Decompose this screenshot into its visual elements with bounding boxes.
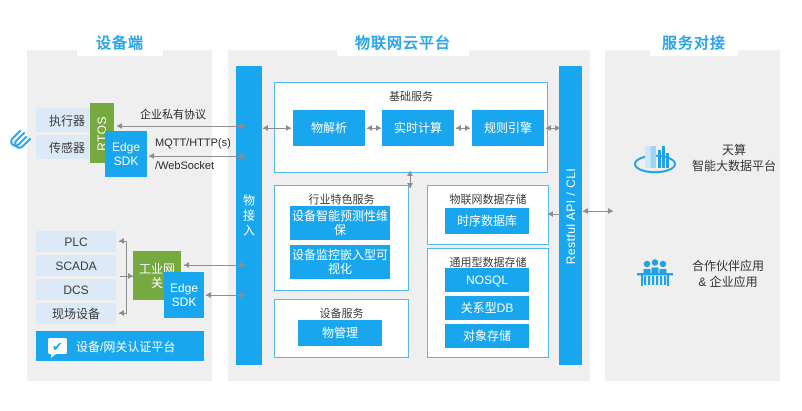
arrow-gateway-to-onsite [119, 313, 127, 314]
platform-api-bar[interactable]: Restful API / CLI [559, 66, 582, 365]
device-auth-platform-bar[interactable]: ✔ 设备/网关认证平台 [36, 331, 204, 361]
arrow-gateway-to-access [184, 265, 245, 266]
link-clip-icon [8, 128, 32, 150]
general-storage-nosql[interactable]: NOSQL [445, 268, 529, 292]
industry-service-monitor[interactable]: 设备监控嵌入型可视化 [290, 245, 390, 279]
arrow-api-to-services [583, 211, 613, 212]
arrow-gateway-to-plc [119, 241, 127, 242]
industry-service-predictive[interactable]: 设备智能预测性维保 [290, 206, 390, 240]
service-partners-line1: 合作伙伴应用 [692, 258, 764, 274]
device-service-thing-mgmt[interactable]: 物管理 [298, 320, 382, 346]
panel-title-service: 服务对接 [650, 32, 738, 56]
arrow-realtime-to-rules [456, 128, 470, 129]
edge-sdk-bottom-label: Edge SDK [164, 281, 204, 309]
card-title-device-services: 设备服务 [275, 305, 408, 321]
basic-service-realtime[interactable]: 实时计算 [382, 110, 454, 146]
iot-architecture-diagram: 设备端 物联网云平台 服务对接 执行器 传感器 RTOS Edge SDK 企业… [0, 0, 802, 411]
arrow-edgesdk-to-access [206, 295, 245, 296]
arrow-rules-to-api [546, 128, 560, 129]
edge-sdk-top-box[interactable]: Edge SDK [105, 131, 147, 177]
arrow-access-to-basic [263, 128, 291, 129]
basic-service-rules[interactable]: 规则引擎 [472, 110, 544, 146]
partners-meeting-icon [632, 259, 678, 289]
basic-service-parse[interactable]: 物解析 [293, 110, 365, 146]
service-item-partners[interactable]: 合作伙伴应用 & 企业应用 [632, 258, 764, 290]
panel-title-platform: 物联网云平台 [337, 32, 469, 56]
service-bigdata-line2: 智能大数据平台 [692, 158, 776, 174]
device-actuator-chip[interactable]: 执行器 [36, 108, 98, 132]
device-sensor-chip[interactable]: 传感器 [36, 135, 98, 159]
check-bubble-icon: ✔ [48, 338, 67, 354]
label-mqtt: MQTT/HTTP(s) [155, 137, 231, 149]
platform-api-label: Restful API / CLI [564, 167, 578, 264]
platform-access-bar[interactable]: 物接入 [236, 66, 262, 365]
arrow-private-protocol [117, 126, 245, 127]
general-storage-rdb[interactable]: 关系型DB [445, 296, 529, 320]
arrow-api-to-storage [548, 214, 560, 215]
service-partners-line2: & 企业应用 [692, 274, 764, 290]
panel-title-device: 设备端 [77, 32, 163, 56]
field-chip-dcs[interactable]: DCS [36, 279, 116, 300]
edge-sdk-bottom-box[interactable]: Edge SDK [164, 272, 204, 318]
panel-service [605, 50, 780, 381]
field-chip-plc[interactable]: PLC [36, 231, 116, 252]
bracket-vertical-plc [126, 241, 127, 277]
arrow-parse-to-realtime [367, 128, 381, 129]
arrow-basic-to-lower [410, 171, 411, 188]
service-bigdata-line1: 天算 [692, 142, 776, 158]
check-glyph: ✔ [52, 340, 63, 353]
service-bigdata-text: 天算 智能大数据平台 [692, 142, 776, 174]
card-title-industry-services: 行业特色服务 [275, 191, 408, 207]
card-title-basic-services: 基础服务 [275, 88, 547, 104]
bigdata-chart-icon [632, 140, 678, 176]
card-title-iot-storage: 物联网数据存储 [428, 191, 548, 207]
edge-sdk-top-label: Edge SDK [105, 140, 147, 168]
general-storage-object[interactable]: 对象存储 [445, 324, 529, 348]
service-item-bigdata[interactable]: 天算 智能大数据平台 [632, 140, 776, 176]
bracket-vertical-onsite [126, 276, 127, 313]
field-chip-scada[interactable]: SCADA [36, 255, 116, 276]
device-auth-platform-label: 设备/网关认证平台 [76, 338, 175, 355]
arrow-mqtt [149, 156, 245, 157]
field-chip-onsite[interactable]: 现场设备 [36, 303, 116, 324]
label-private-protocol: 企业私有协议 [140, 106, 206, 122]
platform-access-label: 物接入 [241, 193, 257, 238]
iot-storage-tsdb[interactable]: 时序数据库 [445, 208, 529, 234]
label-websocket: /WebSocket [155, 160, 214, 172]
service-partners-text: 合作伙伴应用 & 企业应用 [692, 258, 764, 290]
